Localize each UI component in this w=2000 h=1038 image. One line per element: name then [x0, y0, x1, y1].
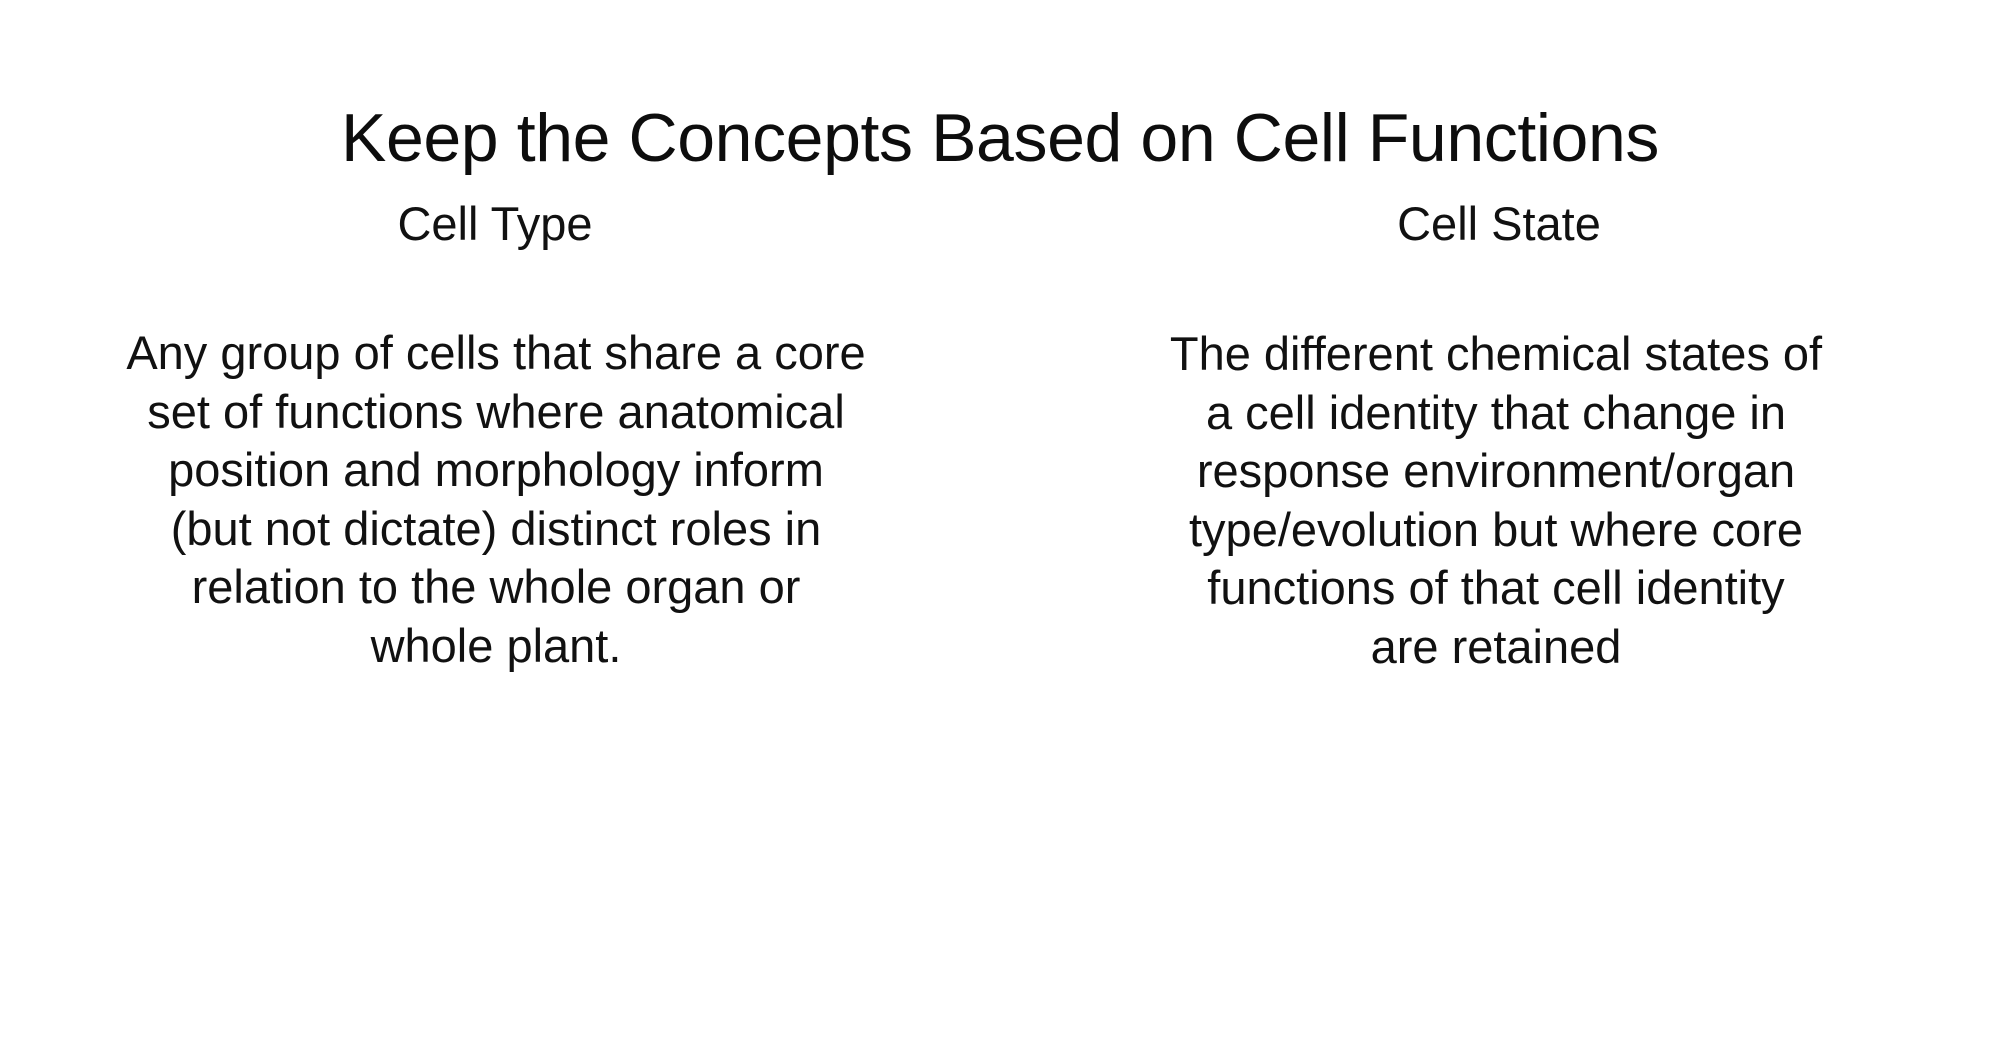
body-line: a cell identity that change in — [1086, 384, 1906, 443]
body-line: position and morphology inform — [116, 441, 876, 500]
slide: Keep the Concepts Based on Cell Function… — [0, 0, 2000, 1038]
concept-columns: Cell Type Any group of cells that share … — [0, 196, 2000, 676]
column-cell-type: Cell Type Any group of cells that share … — [0, 196, 1000, 675]
column-body-cell-state: The different chemical states of a cell … — [1086, 325, 1906, 676]
column-body-cell-type: Any group of cells that share a core set… — [116, 324, 876, 675]
page-title: Keep the Concepts Based on Cell Function… — [0, 98, 2000, 178]
body-line: The different chemical states of — [1086, 325, 1906, 384]
body-line: whole plant. — [116, 617, 876, 676]
body-line: Any group of cells that share a core — [116, 324, 876, 383]
column-cell-state: Cell State The different chemical states… — [1000, 196, 2000, 676]
body-line: (but not dictate) distinct roles in — [116, 500, 876, 559]
body-line: set of functions where anatomical — [116, 383, 876, 442]
column-heading-cell-type: Cell Type — [397, 196, 592, 252]
body-line: relation to the whole organ or — [116, 558, 876, 617]
body-line: functions of that cell identity — [1086, 559, 1906, 618]
body-line: response environment/organ — [1086, 442, 1906, 501]
body-line: type/evolution but where core — [1086, 501, 1906, 560]
body-line: are retained — [1086, 618, 1906, 677]
column-heading-cell-state: Cell State — [1397, 196, 1601, 252]
